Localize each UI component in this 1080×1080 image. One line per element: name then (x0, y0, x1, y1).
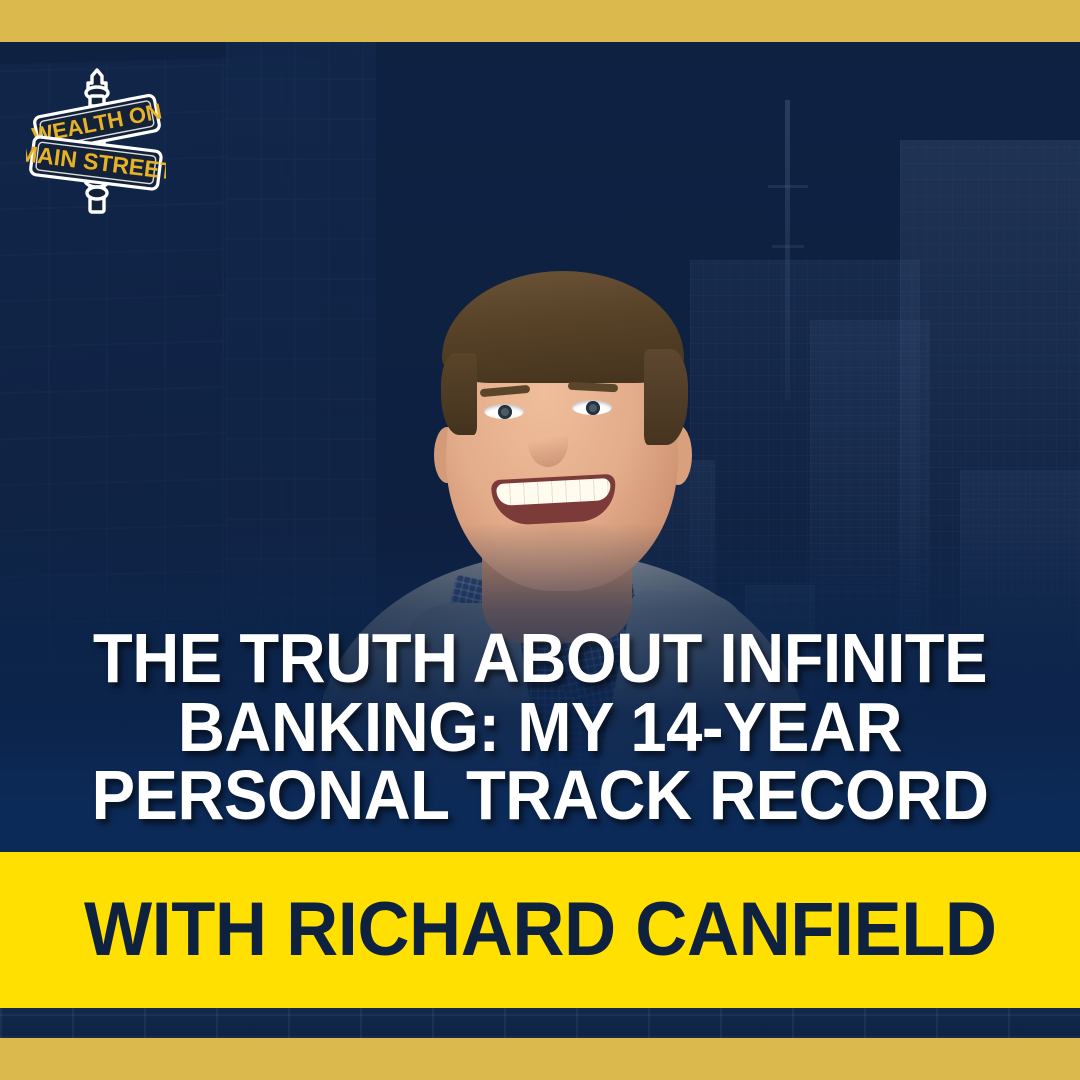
bottom-gold-frame-bar (0, 1038, 1080, 1080)
hair-side-right (644, 349, 688, 445)
headline-line-2: BANKING: MY 14-YEAR (79, 693, 1002, 762)
pupil-left (498, 405, 512, 419)
headline-line-1: THE TRUTH ABOUT INFINITE (79, 624, 1002, 693)
hair-side-left (441, 353, 477, 435)
podcast-thumbnail: WEALTH ON MAIN STREET THE TRUTH ABOUT IN… (0, 0, 1080, 1080)
street-sign-icon: WEALTH ON MAIN STREET (26, 62, 166, 232)
street-sign-logo: WEALTH ON MAIN STREET (26, 62, 166, 232)
episode-headline: THE TRUTH ABOUT INFINITE BANKING: MY 14-… (38, 624, 1042, 830)
bottom-navy-strip (0, 1008, 1080, 1038)
teeth (496, 478, 611, 506)
guest-banner: WITH RICHARD CANFIELD (0, 852, 1080, 1008)
nose (528, 419, 568, 467)
guest-name-text: WITH RICHARD CANFIELD (84, 892, 996, 968)
top-gold-frame-bar (0, 0, 1080, 42)
pupil-right (586, 401, 600, 415)
headline-line-3: PERSONAL TRACK RECORD (79, 761, 1002, 830)
